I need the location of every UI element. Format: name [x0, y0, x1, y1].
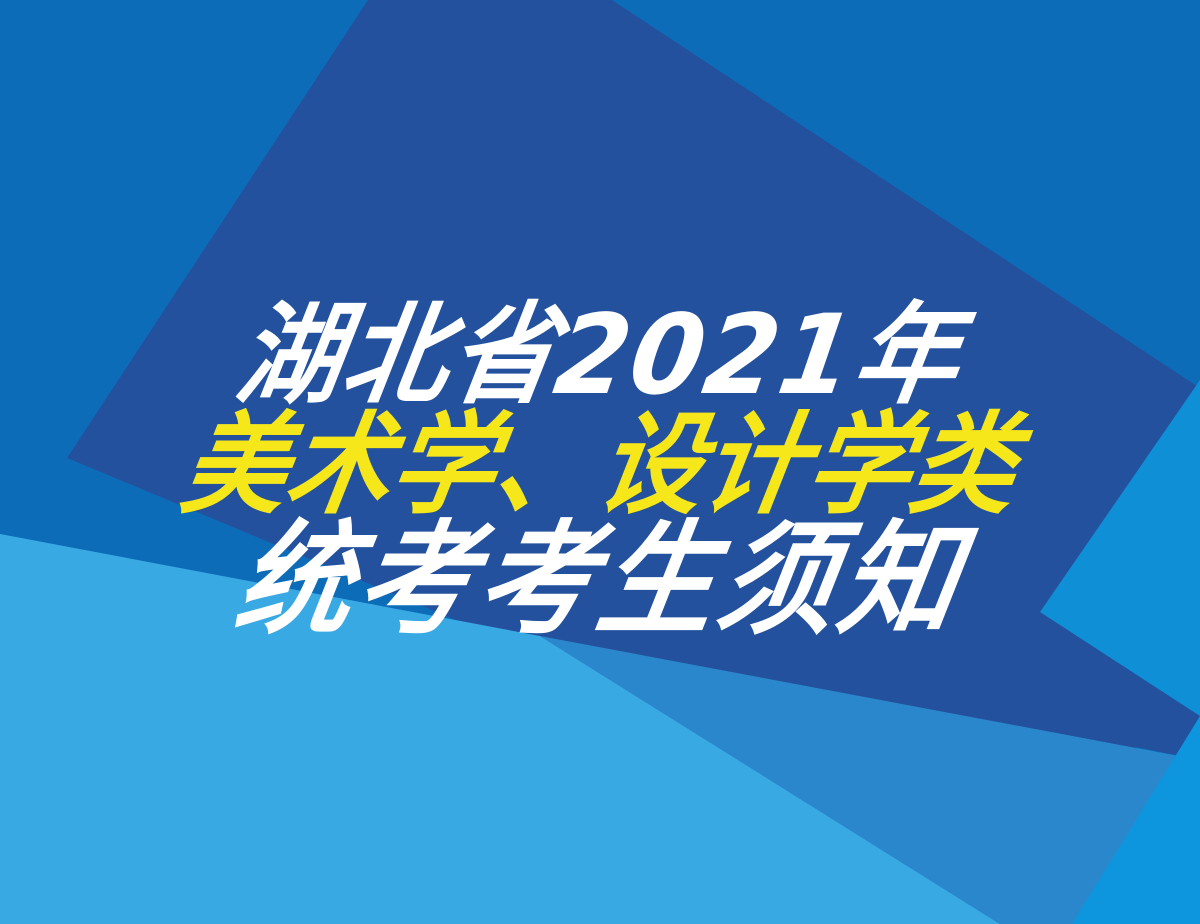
headline-block: 湖北省2021年 美术学、设计学类 统考考生须知: [0, 0, 1200, 924]
title-line-1: 湖北省2021年: [230, 300, 970, 410]
title-line-2: 美术学、设计学类: [175, 410, 1024, 520]
poster-canvas: 湖北省2021年 美术学、设计学类 统考考生须知: [0, 0, 1200, 924]
title-line-3: 统考考生须知: [228, 520, 971, 643]
